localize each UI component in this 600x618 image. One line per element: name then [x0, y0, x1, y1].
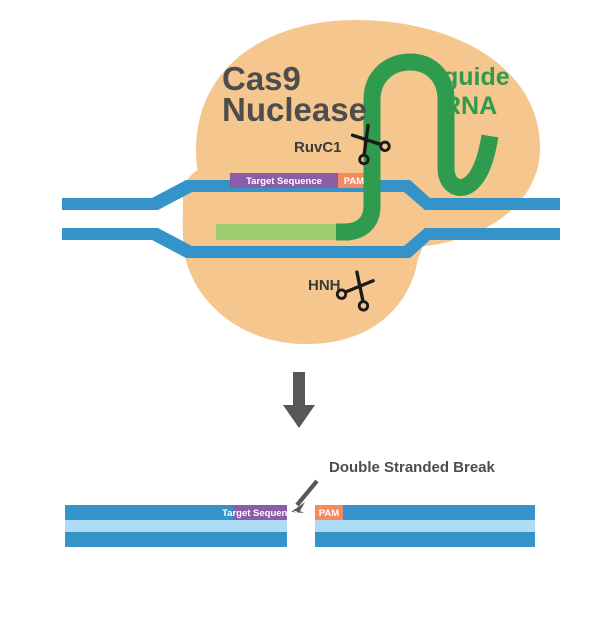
- pam-band-label: PAM: [344, 176, 364, 187]
- double-stranded-break-caption: Double Stranded Break: [329, 459, 496, 476]
- cleaved-fragment-right: PAM: [315, 505, 535, 547]
- cleaved-fragment-left: Target Sequence: [65, 505, 298, 547]
- protospacer-bands: Target Sequence PAM: [230, 173, 370, 188]
- left-fragment-bottom-strand: [65, 532, 287, 547]
- diagram-canvas: Target Sequence PAM Cas9 Nuclease guide …: [0, 0, 600, 618]
- right-fragment-bottom-strand: [315, 532, 535, 547]
- left-fragment-top-strand: [65, 505, 233, 520]
- target-sequence-band-label: Target Sequence: [246, 176, 322, 187]
- target-strand-complement: [216, 224, 344, 240]
- guide-rna-dna-junction: [336, 224, 350, 241]
- hnh-domain-label: HNH: [308, 277, 341, 294]
- cas9-title-line2: Nuclease: [222, 91, 367, 128]
- crispr-cas9-diagram: Target Sequence PAM Cas9 Nuclease guide …: [0, 0, 600, 618]
- left-fragment-target-label: Target Sequence: [222, 508, 298, 519]
- right-fragment-pam-label: PAM: [319, 508, 339, 519]
- right-fragment-middle-strand: [315, 520, 535, 532]
- guide-rna-title-line2: RNA: [443, 92, 497, 120]
- left-fragment-middle-strand: [65, 520, 287, 532]
- right-fragment-top-strand: [343, 505, 535, 520]
- guide-rna-title-line1: guide: [443, 63, 510, 91]
- ruvc1-domain-label: RuvC1: [294, 139, 342, 156]
